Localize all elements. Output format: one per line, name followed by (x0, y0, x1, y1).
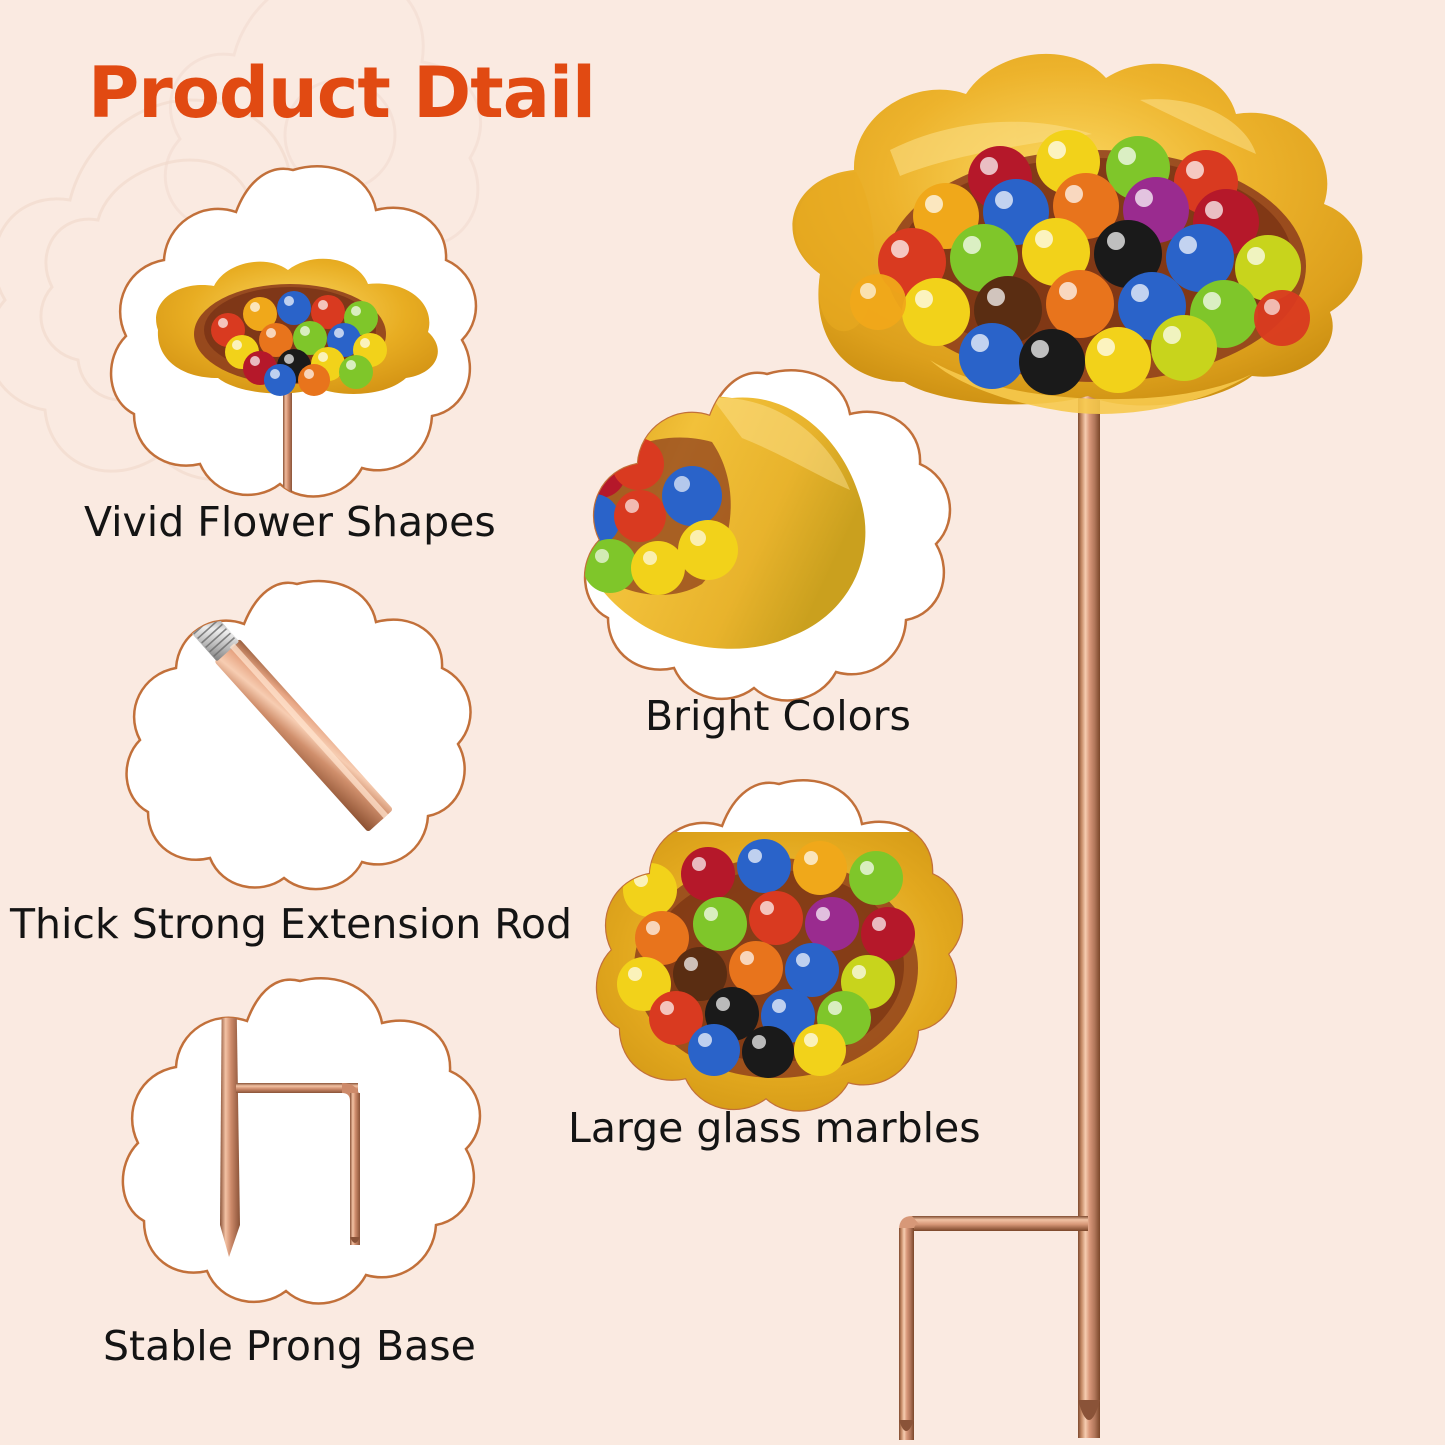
second-prong (350, 1093, 360, 1245)
callout-frame-prong-base (123, 978, 480, 1303)
hero-main-stake (1078, 348, 1100, 1438)
product-detail-page: Product Dtail (0, 0, 1445, 1445)
hero-product-photo[interactable] (700, 30, 1445, 1445)
main-stake-prong (220, 965, 240, 1257)
hero-second-prong (899, 1228, 914, 1440)
feature-label-flower-shapes: Vivid Flower Shapes (84, 498, 496, 546)
feature-callout-prong-base[interactable] (130, 975, 470, 1297)
feature-label-prong-base: Stable Prong Base (103, 1322, 476, 1370)
page-title: Product Dtail (88, 52, 595, 134)
cross-bar (236, 1083, 358, 1093)
feature-callout-flower-shapes[interactable] (118, 162, 468, 502)
feature-label-extension-rod: Thick Strong Extension Rod (10, 900, 572, 948)
feature-callout-extension-rod[interactable] (132, 578, 462, 878)
hero-cross-bar (912, 1216, 1088, 1231)
